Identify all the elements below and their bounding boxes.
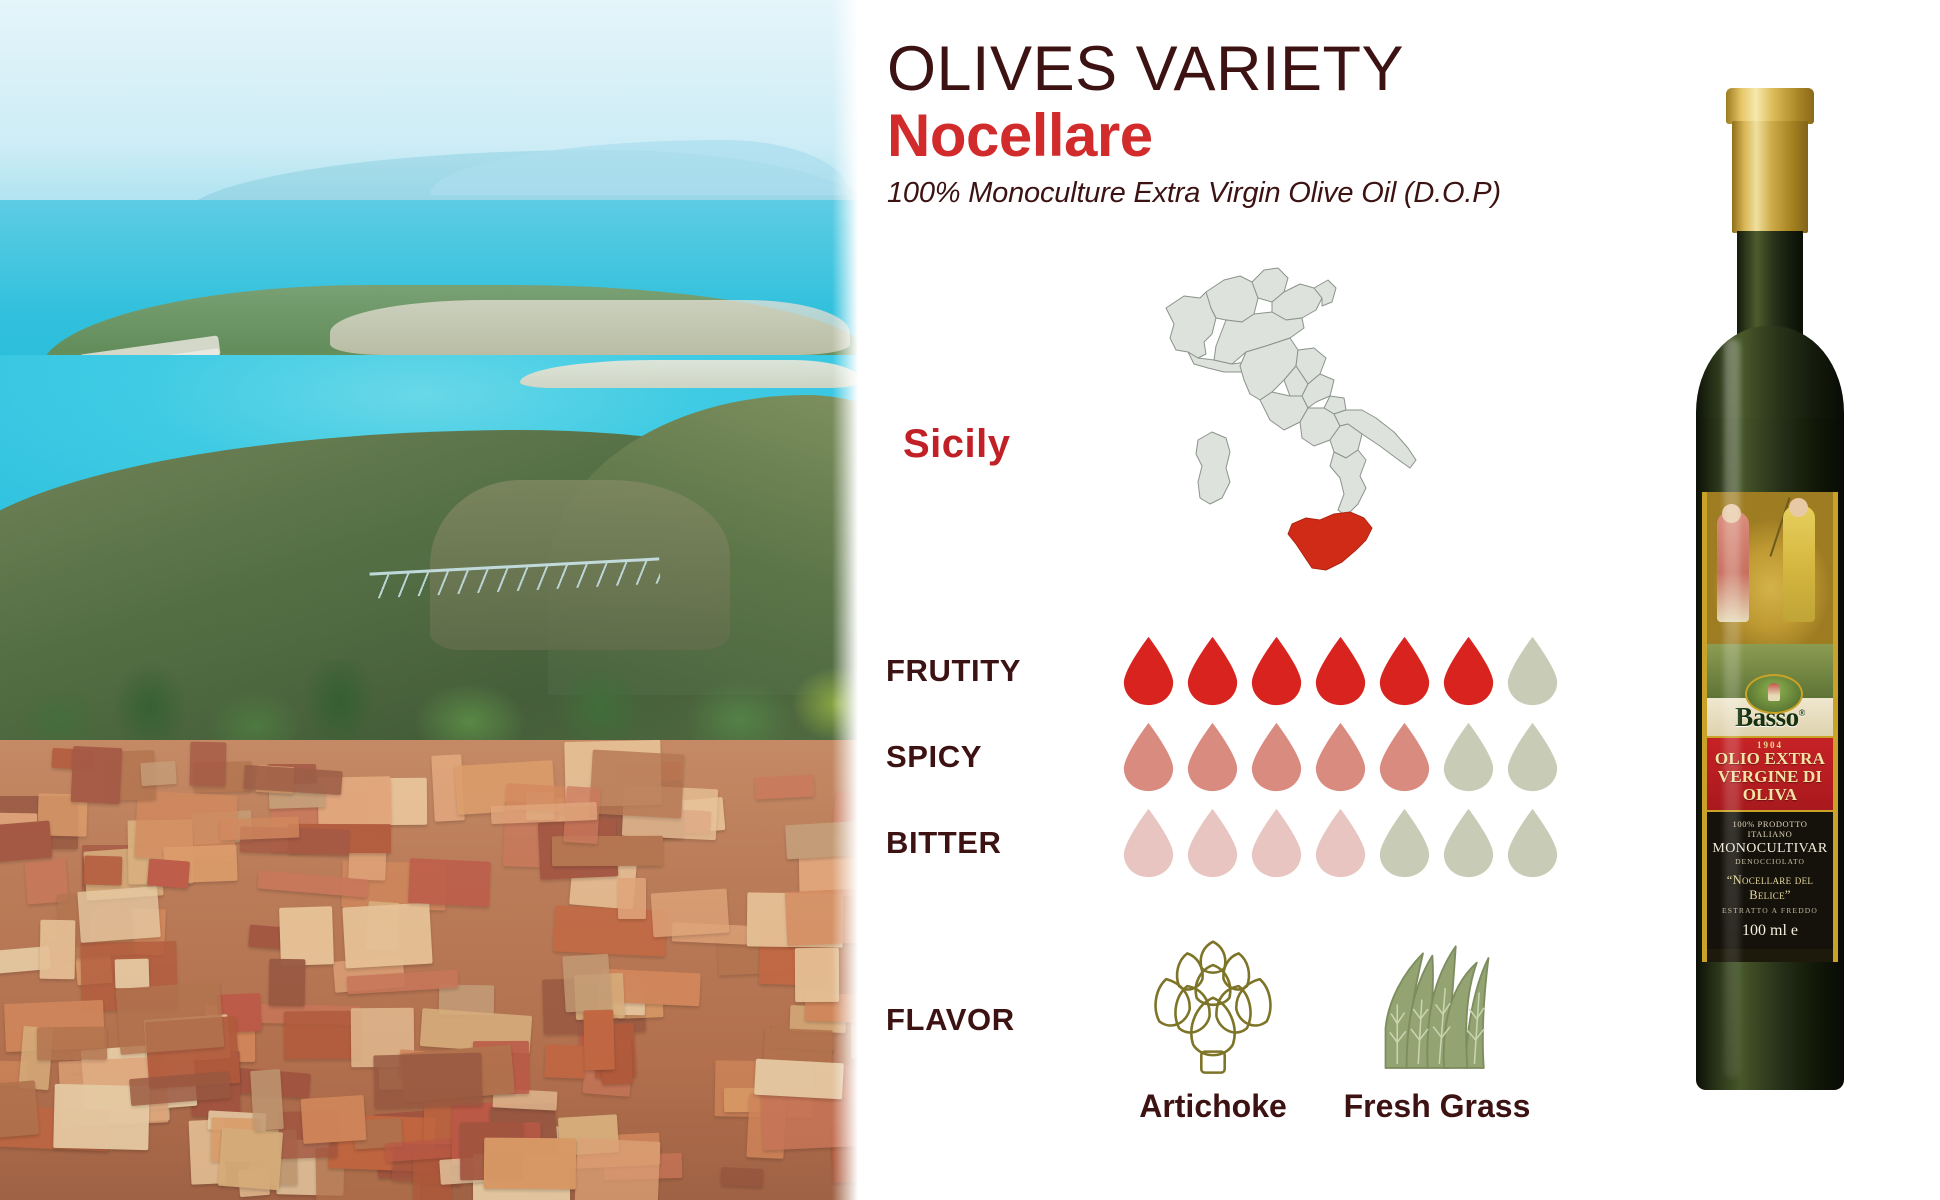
rating-label: BITTER bbox=[858, 825, 1120, 861]
droplet-icon-filled bbox=[1248, 635, 1305, 707]
photo-building bbox=[373, 1052, 483, 1108]
oval-emblem-figure bbox=[1768, 683, 1780, 701]
droplet-icon-empty bbox=[1504, 721, 1561, 793]
photo-building bbox=[574, 1138, 660, 1200]
photo-cape-town bbox=[330, 300, 850, 355]
photo-beach bbox=[520, 360, 858, 388]
droplet-icon-filled bbox=[1184, 721, 1241, 793]
photo-building bbox=[553, 906, 667, 957]
photo-building bbox=[283, 1011, 361, 1059]
photo-building bbox=[268, 959, 305, 1007]
photo-building bbox=[754, 1059, 844, 1099]
rating-scale bbox=[1120, 635, 1561, 707]
droplet-icon-filled bbox=[1248, 807, 1305, 879]
droplet-icon-filled bbox=[1312, 635, 1369, 707]
rating-label: FRUTITY bbox=[858, 653, 1120, 689]
variety-name: Nocellare bbox=[887, 102, 1687, 169]
mosaic-figure-right bbox=[1783, 506, 1815, 622]
photo-building bbox=[408, 858, 491, 907]
photo-building bbox=[115, 981, 223, 1055]
flavor-item-artichoke: Artichoke bbox=[1118, 930, 1308, 1125]
bottle-highlight bbox=[1724, 338, 1740, 1078]
flavor-name: Fresh Grass bbox=[1344, 1088, 1531, 1125]
rating-scale bbox=[1120, 807, 1561, 879]
bottle-neck-foil bbox=[1732, 121, 1808, 233]
photo-building bbox=[651, 888, 729, 937]
droplet-icon-empty bbox=[1440, 721, 1497, 793]
photo-building bbox=[218, 1128, 283, 1190]
photo-building bbox=[279, 906, 334, 966]
photo-building bbox=[77, 887, 161, 944]
photo-building bbox=[71, 746, 123, 804]
photo-building bbox=[720, 1167, 763, 1187]
artichoke-icon bbox=[1138, 930, 1288, 1082]
droplet-icon-filled bbox=[1184, 807, 1241, 879]
photo-building bbox=[140, 761, 176, 787]
region-label: Sicily bbox=[903, 422, 1011, 467]
photo-building bbox=[147, 858, 190, 888]
photo-building bbox=[483, 1137, 576, 1189]
photo-building bbox=[618, 878, 646, 919]
rating-scale bbox=[1120, 721, 1561, 793]
droplet-icon-empty bbox=[1504, 807, 1561, 879]
droplet-icon-empty bbox=[1440, 807, 1497, 879]
droplet-icon-filled bbox=[1312, 807, 1369, 879]
fresh-grass-icon bbox=[1362, 930, 1512, 1082]
flavor-item-fresh-grass: Fresh Grass bbox=[1342, 930, 1532, 1125]
photo-building bbox=[584, 1010, 615, 1070]
photo-building bbox=[0, 821, 53, 864]
photo-building bbox=[343, 902, 434, 968]
photo-building bbox=[36, 1027, 106, 1060]
photo-building bbox=[590, 749, 686, 818]
photo-building bbox=[190, 741, 227, 786]
photo-building bbox=[562, 954, 611, 1013]
flavor-label: FLAVOR bbox=[886, 1002, 1015, 1038]
flavor-name: Artichoke bbox=[1139, 1088, 1287, 1125]
droplet-icon-filled bbox=[1120, 721, 1177, 793]
bottle-label: Basso® 1904 OLIO EXTRA VERGINE DI OLIVA … bbox=[1702, 492, 1838, 962]
rating-label: SPICY bbox=[858, 739, 1120, 775]
italy-map bbox=[1154, 262, 1454, 592]
droplet-icon-empty bbox=[1376, 807, 1433, 879]
droplet-icon-empty bbox=[1504, 635, 1561, 707]
droplet-icon-filled bbox=[1248, 721, 1305, 793]
droplet-icon-filled bbox=[1120, 807, 1177, 879]
olive-oil-bottle: Basso® 1904 OLIO EXTRA VERGINE DI OLIVA … bbox=[1680, 88, 1860, 1098]
photo-building bbox=[755, 774, 815, 799]
photo-right-fade bbox=[832, 0, 858, 1200]
flavor-items: Artichoke bbox=[1118, 930, 1532, 1125]
photo-building bbox=[40, 920, 76, 980]
page-title: OLIVES VARIETY bbox=[887, 36, 1687, 102]
photo-building bbox=[219, 816, 298, 840]
photo-building bbox=[301, 1095, 366, 1144]
droplet-icon-filled bbox=[1120, 635, 1177, 707]
droplet-icon-filled bbox=[1440, 635, 1497, 707]
page-subtitle: 100% Monoculture Extra Virgin Olive Oil … bbox=[887, 177, 1687, 210]
photo-town-roofs bbox=[0, 740, 858, 1200]
photo-building bbox=[0, 1081, 39, 1138]
droplet-icon-filled bbox=[1376, 635, 1433, 707]
photo-building bbox=[114, 959, 149, 989]
photo-building bbox=[250, 1069, 284, 1130]
bottle-neck bbox=[1737, 231, 1803, 341]
mosaic-head-right bbox=[1789, 498, 1808, 517]
label-oval-emblem bbox=[1745, 674, 1803, 714]
droplet-icon-filled bbox=[1184, 635, 1241, 707]
bottle-cap bbox=[1726, 88, 1814, 124]
droplet-icon-filled bbox=[1312, 721, 1369, 793]
droplet-icon-filled bbox=[1376, 721, 1433, 793]
olive-oil-infographic: OLIVES VARIETY Nocellare 100% Monocultur… bbox=[0, 0, 1940, 1200]
photo-building bbox=[84, 855, 123, 885]
sicily-coast-photo bbox=[0, 0, 858, 1200]
title-block: OLIVES VARIETY Nocellare 100% Monocultur… bbox=[887, 36, 1687, 210]
photo-building bbox=[544, 1044, 585, 1078]
